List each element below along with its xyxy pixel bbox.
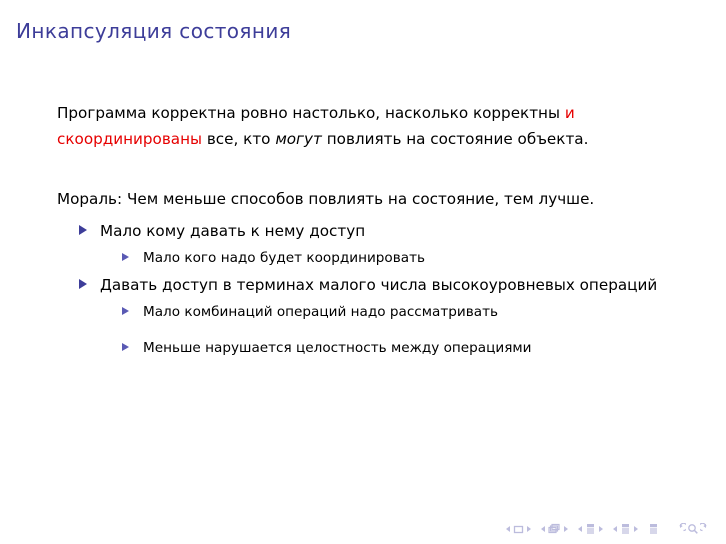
list-item: Меньше нарушается целостность между опер… <box>100 338 677 358</box>
triangle-bullet-icon <box>79 279 87 289</box>
subsection-icon[interactable] <box>585 523 596 535</box>
triangle-bullet-icon <box>122 343 129 351</box>
slide-navigation-group[interactable] <box>506 524 531 535</box>
back-icon[interactable] <box>674 523 686 535</box>
find-icon[interactable] <box>687 523 699 535</box>
beamer-navigation-bar[interactable] <box>506 523 712 535</box>
next-slide-icon[interactable] <box>527 526 531 532</box>
sublist-wrapper: Мало кого надо будет координировать <box>100 248 677 268</box>
triangle-bullet-icon <box>122 307 129 315</box>
paragraph-segment-emphasis: могут <box>275 130 322 148</box>
page-title: Инкапсуляция состояния <box>16 18 291 44</box>
paragraph-moral: Мораль: Чем меньше способов повлиять на … <box>57 186 677 212</box>
subsection-navigation-group[interactable] <box>578 523 603 535</box>
forward-icon[interactable] <box>700 523 712 535</box>
presentation-icon[interactable] <box>648 523 659 535</box>
list-item: Мало комбинаций операций надо рассматрив… <box>100 302 677 322</box>
sublist-wrapper: Мало комбинаций операций надо рассматрив… <box>100 302 677 358</box>
next-subsection-icon[interactable] <box>599 526 603 532</box>
bullet-list-level1: Мало кому давать к нему доступ Мало кого… <box>57 220 677 358</box>
slide-icon[interactable] <box>513 524 524 535</box>
list-item-label: Мало кому давать к нему доступ <box>100 222 365 240</box>
paragraph-segment-plain: Программа корректна ровно настолько, нас… <box>57 104 565 122</box>
frame-navigation-group[interactable] <box>541 523 568 535</box>
list-item: Давать доступ в терминах малого числа вы… <box>57 274 677 358</box>
list-item: Мало кому давать к нему доступ Мало кого… <box>57 220 677 268</box>
paragraph-correctness: Программа корректна ровно настолько, нас… <box>57 100 677 152</box>
section-navigation-group[interactable] <box>613 523 638 535</box>
next-section-icon[interactable] <box>634 526 638 532</box>
paragraph-segment-plain-2: все, кто <box>202 130 275 148</box>
previous-subsection-icon[interactable] <box>578 526 582 532</box>
previous-slide-icon[interactable] <box>506 526 510 532</box>
slide-content: Программа корректна ровно настолько, нас… <box>57 100 677 364</box>
list-item: Мало кого надо будет координировать <box>100 248 677 268</box>
bullet-list-level2: Мало кого надо будет координировать <box>100 248 677 268</box>
bullet-list-level2: Мало комбинаций операций надо рассматрив… <box>100 302 677 358</box>
list-item-label: Давать доступ в терминах малого числа вы… <box>100 276 657 294</box>
previous-frame-icon[interactable] <box>541 526 545 532</box>
list-item-label: Мало комбинаций операций надо рассматрив… <box>143 304 498 320</box>
next-frame-icon[interactable] <box>564 526 568 532</box>
paragraph-segment-plain-3: повлиять на состояние объекта. <box>322 130 589 148</box>
triangle-bullet-icon <box>122 253 129 261</box>
presentation-navigation-group[interactable] <box>648 523 659 535</box>
frame-icon[interactable] <box>548 523 561 535</box>
section-icon[interactable] <box>620 523 631 535</box>
previous-section-icon[interactable] <box>613 526 617 532</box>
list-item-label: Меньше нарушается целостность между опер… <box>143 340 531 356</box>
document-navigation-group[interactable] <box>673 523 712 535</box>
list-item-label: Мало кого надо будет координировать <box>143 250 425 266</box>
triangle-bullet-icon <box>79 225 87 235</box>
